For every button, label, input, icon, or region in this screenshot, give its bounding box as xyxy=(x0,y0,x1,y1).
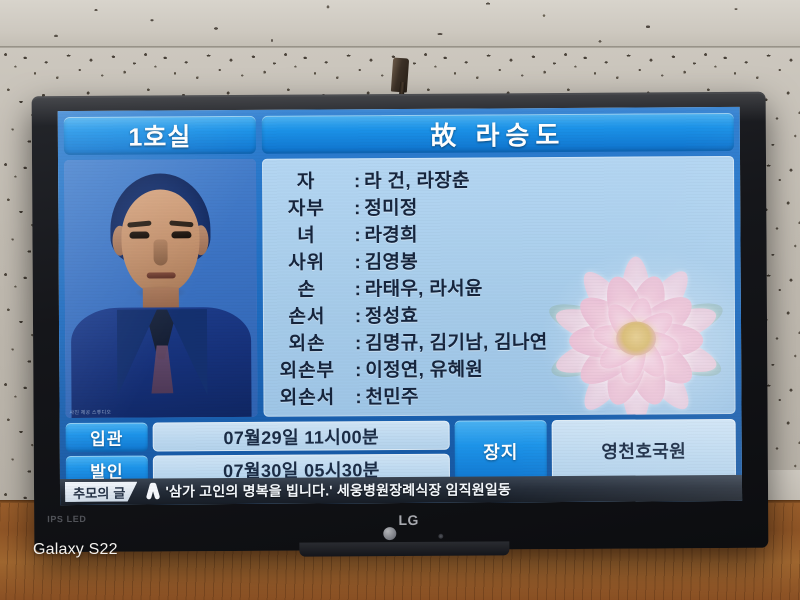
funeral-info-slide: 1호실 故 라승도 xyxy=(58,107,742,505)
relation-label: 손서 xyxy=(263,301,351,329)
wall-upper-band xyxy=(0,0,800,46)
relation-separator: : xyxy=(350,198,364,220)
ticker-message: '삼가 고인의 명복을 빕니다.' 세웅병원장례식장 임직원일동 xyxy=(165,479,511,501)
lg-emblem-icon: o xyxy=(384,527,397,540)
portrait-lapel-left xyxy=(117,309,158,395)
ir-receiver-icon xyxy=(438,534,443,539)
room-scene: 1호실 故 라승도 xyxy=(0,0,800,600)
slide-body: 사진 제공 스튜디오 xyxy=(64,156,736,418)
schedule-label: 입관 xyxy=(66,423,148,453)
relation-separator: : xyxy=(350,225,364,247)
relation-separator: : xyxy=(351,333,365,355)
relation-row: 외손 : 김명규, 김기남, 김나연 xyxy=(263,326,735,356)
burial-label: 장지 xyxy=(455,420,547,483)
television: 1호실 故 라승도 xyxy=(32,92,769,552)
relation-label: 손 xyxy=(263,274,351,302)
relation-separator: : xyxy=(351,306,365,328)
memorial-ticker-bar: 추모의 글 '삼가 고인의 명복을 빕니다.' 세웅병원장례식장 임직원일동 xyxy=(60,475,742,505)
relation-value: 정성효 xyxy=(365,301,419,328)
schedule-rows: 입관 07월29일 11시00분 발인 07월30일 05시30분 xyxy=(66,421,450,485)
tv-stand-base xyxy=(299,541,509,556)
burial-site-row: 장지 영천호국원 xyxy=(455,419,736,483)
portrait-nose xyxy=(153,239,167,265)
portrait-eye-right xyxy=(171,231,191,238)
tv-brand-logo: oLG xyxy=(34,510,768,542)
relation-label: 녀 xyxy=(262,220,350,248)
relation-row: 사위 : 김영봉 xyxy=(263,245,735,275)
family-relations-panel: 자 : 라 건, 라장춘 자부 : 정미정 녀 : xyxy=(262,156,736,417)
ticker-tag-label: 추모의 글 xyxy=(65,482,138,502)
relation-row: 외손서 : 천민주 xyxy=(263,380,735,410)
memorial-ribbon-icon xyxy=(145,481,161,501)
burial-value: 영천호국원 xyxy=(552,419,736,482)
room-number-badge: 1호실 xyxy=(64,116,256,155)
relation-row: 자 : 라 건, 라장춘 xyxy=(262,164,734,194)
schedule-value: 07월29일 11시00분 xyxy=(153,421,450,452)
relation-value: 김명규, 김기남, 김나연 xyxy=(365,327,548,355)
relation-row: 손서 : 정성효 xyxy=(263,299,735,329)
relation-label: 사위 xyxy=(263,247,351,275)
relation-value: 라경희 xyxy=(364,220,418,247)
relation-label: 외손서 xyxy=(263,382,351,410)
relation-separator: : xyxy=(351,360,365,382)
relation-separator: : xyxy=(351,387,365,409)
relation-value: 천민주 xyxy=(365,382,419,409)
relation-row: 외손부 : 이정연, 유혜원 xyxy=(263,353,735,383)
relation-row: 손 : 라태우, 라서윤 xyxy=(263,272,735,302)
relation-value: 라태우, 라서윤 xyxy=(365,273,483,301)
relation-row: 녀 : 라경희 xyxy=(262,218,734,248)
relation-row: 자부 : 정미정 xyxy=(262,191,734,221)
relation-label: 자 xyxy=(262,166,350,194)
deceased-name-title: 故 라승도 xyxy=(262,113,734,154)
relation-separator: : xyxy=(350,171,364,193)
slide-header: 1호실 故 라승도 xyxy=(64,113,734,155)
relation-value: 라 건, 라장춘 xyxy=(364,166,470,194)
relation-label: 자부 xyxy=(262,193,350,221)
deceased-portrait-photo: 사진 제공 스튜디오 xyxy=(64,159,258,418)
relation-label: 외손 xyxy=(263,328,351,356)
relations-list: 자 : 라 건, 라장춘 자부 : 정미정 녀 : xyxy=(262,156,736,410)
schedule-row-encoffining: 입관 07월29일 11시00분 xyxy=(66,421,450,452)
relation-separator: : xyxy=(351,279,365,301)
device-watermark: Galaxy S22 xyxy=(33,541,118,559)
portrait-eye-left xyxy=(129,232,149,239)
relation-value: 이정연, 유혜원 xyxy=(365,354,483,382)
portrait-studio-caption: 사진 제공 스튜디오 xyxy=(70,409,112,416)
tv-brand-text: LG xyxy=(398,512,419,528)
relation-separator: : xyxy=(351,252,365,274)
relation-value: 정미정 xyxy=(364,193,418,220)
tv-screen: 1호실 故 라승도 xyxy=(58,107,742,505)
portrait-lapel-right xyxy=(167,309,208,395)
relation-label: 외손부 xyxy=(263,355,351,383)
relation-value: 김영봉 xyxy=(365,247,419,274)
portrait-mouth xyxy=(147,272,176,278)
